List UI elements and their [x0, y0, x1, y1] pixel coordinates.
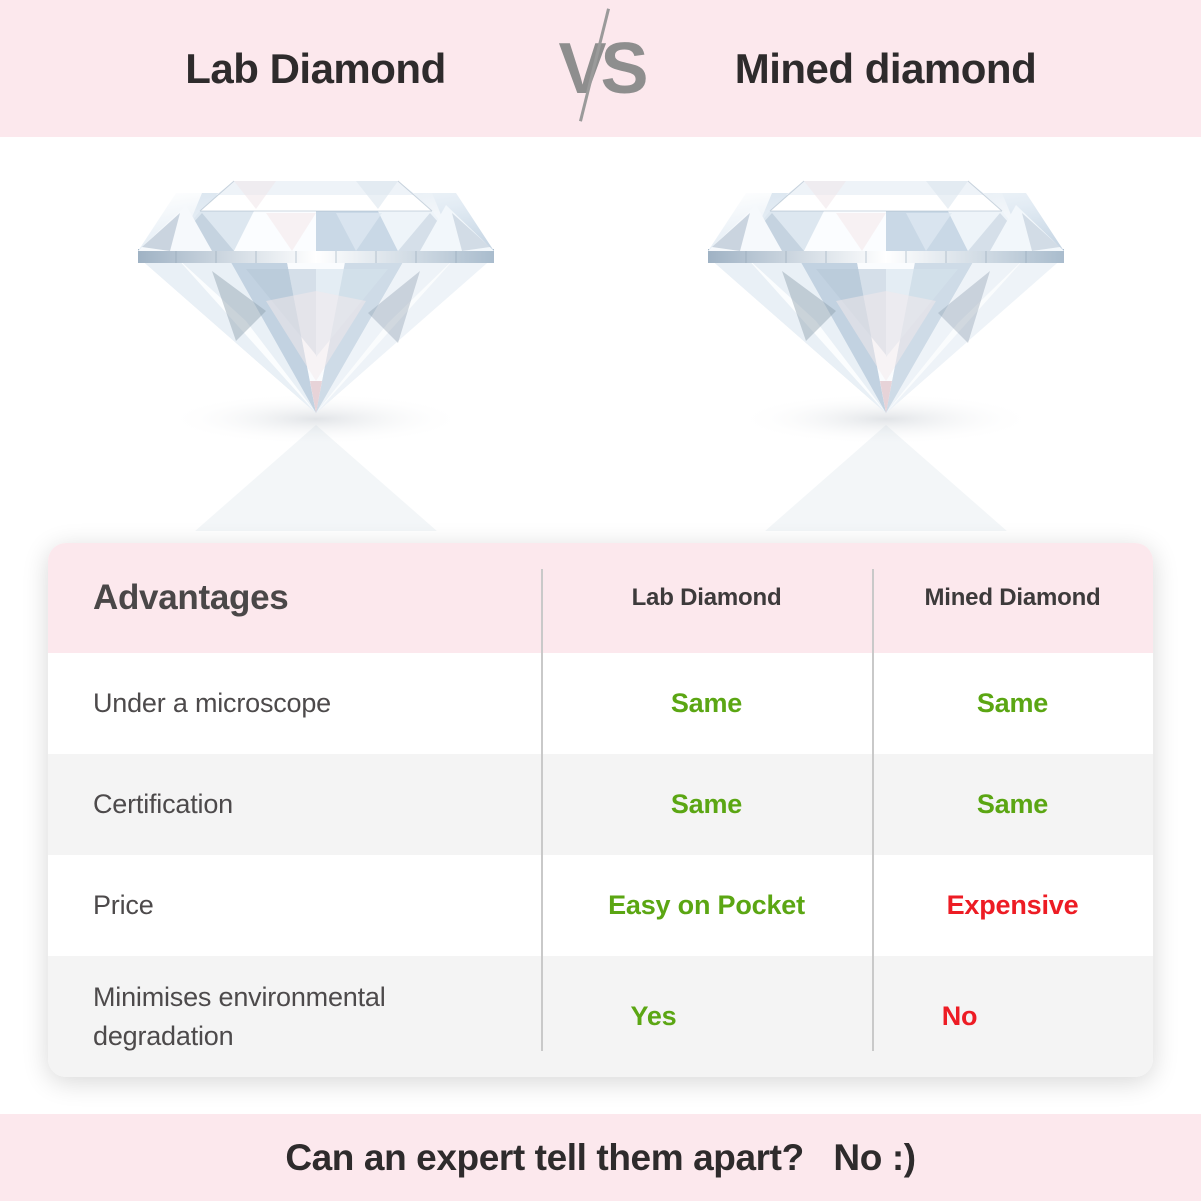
- column-divider-2: [872, 569, 874, 1051]
- lab-diamond-image: [116, 151, 516, 531]
- diamond-comparison-images: [0, 137, 1201, 537]
- header-advantages: Advantages: [48, 578, 541, 618]
- row-label: Under a microscope: [48, 684, 541, 722]
- footer-question: Can an expert tell them apart? No :): [285, 1137, 915, 1179]
- header-mined-diamond: Mined Diamond: [872, 584, 1153, 612]
- row-mined-value: No: [819, 1001, 1100, 1032]
- versus-badge: VS: [546, 33, 656, 105]
- table-row: Under a microscope Same Same: [48, 653, 1153, 754]
- mined-diamond-title: Mined diamond: [656, 45, 1116, 93]
- comparison-table-zone: Advantages Lab Diamond Mined Diamond Und…: [0, 537, 1201, 1097]
- row-label: Certification: [48, 785, 541, 823]
- row-lab-value: Same: [541, 688, 872, 719]
- lab-diamond-title: Lab Diamond: [86, 45, 546, 93]
- mined-diamond-image: [686, 151, 1086, 531]
- row-label: Minimises environmental degradation: [48, 978, 488, 1055]
- footer-banner: Can an expert tell them apart? No :): [0, 1114, 1201, 1201]
- table-row: Certification Same Same: [48, 754, 1153, 855]
- row-lab-value: Easy on Pocket: [541, 890, 872, 921]
- row-label: Price: [48, 886, 541, 924]
- table-row: Minimises environmental degradation Yes …: [48, 956, 1153, 1077]
- table-row: Price Easy on Pocket Expensive: [48, 855, 1153, 956]
- row-mined-value: Expensive: [872, 890, 1153, 921]
- row-lab-value: Same: [541, 789, 872, 820]
- row-mined-value: Same: [872, 789, 1153, 820]
- table-header-row: Advantages Lab Diamond Mined Diamond: [48, 543, 1153, 653]
- row-lab-value: Yes: [488, 1001, 819, 1032]
- comparison-table-card: Advantages Lab Diamond Mined Diamond Und…: [48, 543, 1153, 1077]
- header-lab-diamond: Lab Diamond: [541, 584, 872, 612]
- column-divider-1: [541, 569, 543, 1051]
- row-mined-value: Same: [872, 688, 1153, 719]
- header-banner: Lab Diamond VS Mined diamond: [0, 0, 1201, 137]
